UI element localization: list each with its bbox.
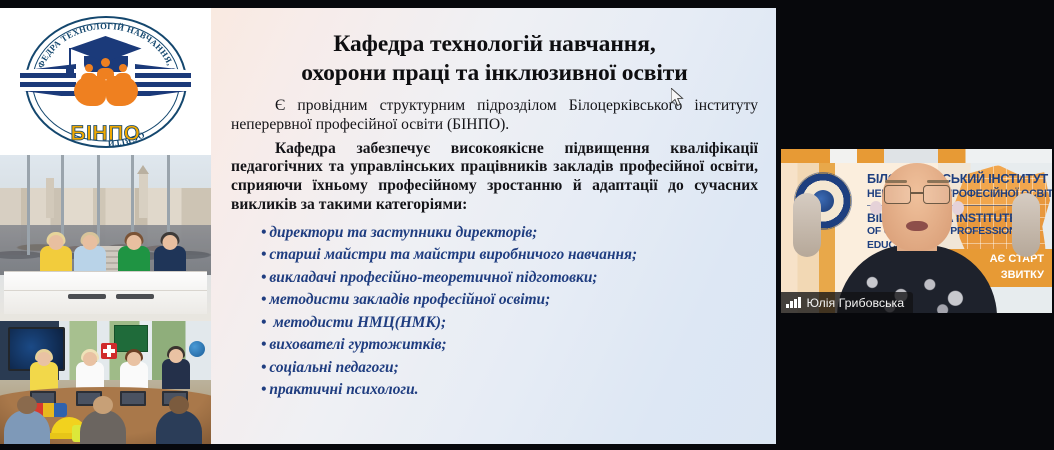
logo-hands-icon: [74, 70, 138, 106]
list-item-label: методисти закладів професійної освіти;: [269, 291, 550, 308]
list-item: •методисти закладів професійної освіти;: [261, 289, 764, 312]
slide-title-line-2: охорони праці та інклюзивної освіти: [231, 59, 758, 88]
bullet-marker: •: [261, 314, 266, 331]
list-item-label: практичні психологи.: [269, 381, 418, 398]
bullet-marker: •: [261, 224, 266, 241]
slide-bullet-list: •директори та заступники директорів; •ст…: [261, 222, 764, 403]
slide-title: Кафедра технологій навчання, охорони пра…: [231, 30, 758, 87]
list-item: •вихователі гуртожитків;: [261, 334, 764, 357]
list-item-label: вихователі гуртожитків;: [269, 336, 446, 353]
list-item-label: викладачі професійно-теоретичної підгото…: [269, 269, 597, 286]
training-room-photo: [0, 321, 211, 444]
background-banner-line-2: ЗВИТКУ: [1001, 269, 1044, 281]
slide-paragraph-1: Є провідним структурним підрозділом Біло…: [227, 97, 764, 134]
participant-name: Юлія Грибовська: [807, 296, 905, 310]
list-item-label: старші майстри та майстри виробничого на…: [269, 246, 637, 263]
participant-video-tile[interactable]: БІЛОЦЕРКІВСЬКИЙ ІНСТИТУТ НЕПЕРЕРВНОЇ ПРО…: [781, 149, 1052, 313]
shared-slide[interactable]: КАФЕДРА ТЕХНОЛОГІЙ НАВЧАННЯ, ОХОРОНИ ПРА…: [0, 8, 776, 444]
bullet-marker: •: [261, 269, 266, 286]
eyeglasses-icon: [884, 185, 950, 205]
list-item: •директори та заступники директорів;: [261, 222, 764, 245]
auditorium-photo: [0, 155, 211, 321]
logo-wordmark: БІНПО: [70, 122, 140, 146]
list-item: •соціальні педагоги;: [261, 357, 764, 380]
bullet-marker: •: [261, 291, 266, 308]
bullet-marker: •: [261, 246, 266, 263]
bullet-marker: •: [261, 381, 266, 398]
slide-content: Кафедра технологій навчання, охорони пра…: [211, 8, 776, 444]
background-top-band: [781, 149, 1052, 163]
list-item: •викладачі професійно-теоретичної підгот…: [261, 267, 764, 290]
bullet-marker: •: [261, 336, 266, 353]
bullet-marker: •: [261, 359, 266, 376]
screen-share-view: КАФЕДРА ТЕХНОЛОГІЙ НАВЧАННЯ, ОХОРОНИ ПРА…: [0, 0, 1054, 450]
signal-bars-icon: [786, 297, 801, 308]
department-logo: КАФЕДРА ТЕХНОЛОГІЙ НАВЧАННЯ, ОХОРОНИ ПРА…: [0, 8, 211, 155]
background-banner-line-1: АЄ СТАРТ: [990, 253, 1044, 265]
slide-paragraph-2: Кафедра забезпечує високоякісне підвищен…: [227, 140, 764, 215]
list-item: • методисти НМЦ(НМК);: [261, 312, 764, 335]
list-item-label: директори та заступники директорів;: [269, 224, 537, 241]
participant-name-badge: Юлія Грибовська: [781, 292, 913, 313]
slide-left-column: КАФЕДРА ТЕХНОЛОГІЙ НАВЧАННЯ, ОХОРОНИ ПРА…: [0, 8, 211, 444]
list-item-label: методисти НМЦ(НМК);: [273, 314, 446, 331]
list-item: •старші майстри та майстри виробничого н…: [261, 244, 764, 267]
slide-title-line-1: Кафедра технологій навчання,: [231, 30, 758, 59]
list-item: •практичні психологи.: [261, 379, 764, 402]
list-item-label: соціальні педагоги;: [269, 359, 398, 376]
